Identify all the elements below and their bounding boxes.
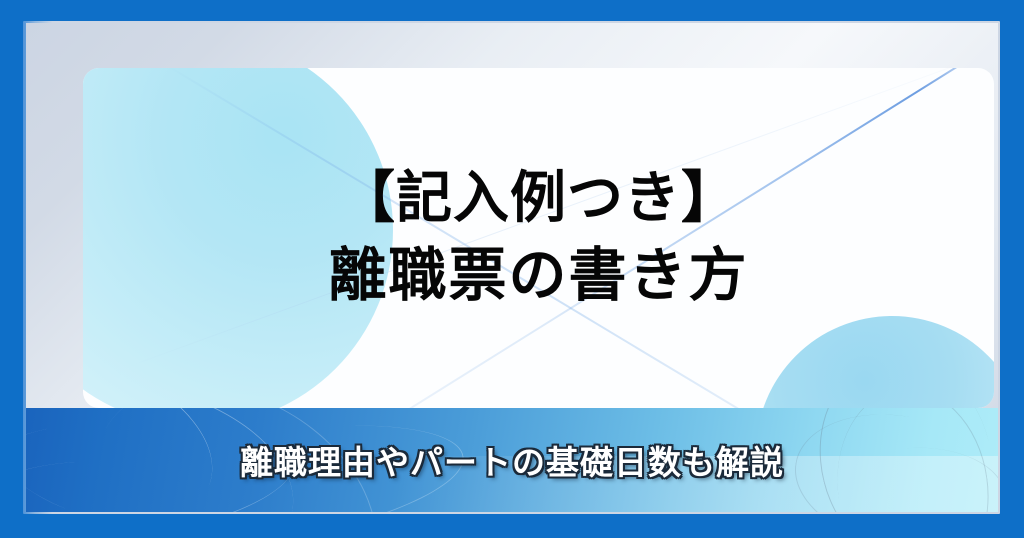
inner-card: 【記入例つき】 離職票の書き方 xyxy=(83,68,994,408)
subtitle-wrap: 離職理由やパートの基礎日数も解説 xyxy=(26,408,998,512)
outer-card: 【記入例つき】 離職票の書き方 離職理由やパートの基礎日数も解説 xyxy=(26,23,998,512)
page-title-line-2: 離職票の書き方 xyxy=(328,239,748,312)
subtitle-banner: 離職理由やパートの基礎日数も解説 xyxy=(26,408,998,512)
thumbnail-canvas: 【記入例つき】 離職票の書き方 離職理由やパートの基礎日数も解説 xyxy=(0,0,1024,538)
page-subtitle: 離職理由やパートの基礎日数も解説 xyxy=(240,436,784,484)
title-block: 【記入例つき】 離職票の書き方 xyxy=(83,68,994,408)
page-title-line-1: 【記入例つき】 xyxy=(339,164,738,235)
